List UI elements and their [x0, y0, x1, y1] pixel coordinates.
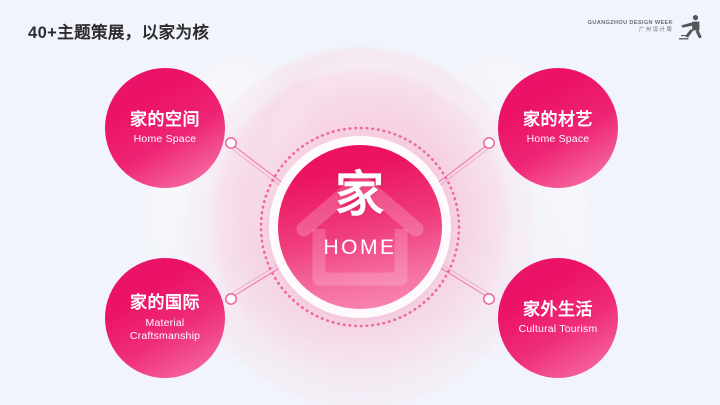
center-label-en: HOME — [278, 237, 442, 258]
bubble-label-cn: 家的材艺 — [523, 110, 593, 130]
center-label-cn: 家 — [278, 171, 442, 220]
connector-node-bottom-left — [226, 294, 236, 304]
slide-canvas: 家 HOME 家的空间 Home Space 家的材艺 Home Space 家… — [0, 0, 720, 405]
bubble-label-cn: 家的空间 — [130, 110, 200, 130]
connector-node-bottom-right — [484, 294, 494, 304]
bubble-label-cn: 家外生活 — [523, 300, 593, 320]
connector-node-top-right — [484, 138, 494, 148]
topic-bubble-home-space[interactable]: 家的空间 Home Space — [105, 68, 225, 188]
bubble-label-en: Cultural Tourism — [519, 323, 598, 336]
topic-bubble-home-craft[interactable]: 家的材艺 Home Space — [498, 68, 618, 188]
bubble-label-en: Material Craftsmanship — [130, 317, 200, 343]
brand-logo-text: GUANGZHOU DESIGN WEEK 广州设计周 — [588, 20, 673, 34]
bubble-label-cn: 家的国际 — [130, 293, 200, 313]
brand-logo-cn: 广州设计周 — [639, 27, 673, 34]
bubble-label-en-line2: Craftsmanship — [130, 330, 200, 342]
center-home-circle[interactable]: 家 HOME — [278, 145, 442, 309]
brand-logo: GUANGZHOU DESIGN WEEK 广州设计周 — [588, 13, 704, 41]
topic-bubble-material-craftsmanship[interactable]: 家的国际 Material Craftsmanship — [105, 258, 225, 378]
page-title: 40+主题策展，以家为核 — [28, 19, 209, 43]
brand-logo-en: GUANGZHOU DESIGN WEEK — [588, 20, 673, 27]
bubble-label-en-line1: Material — [146, 317, 185, 329]
bubble-label-en: Home Space — [527, 133, 590, 146]
bubble-label-en: Home Space — [134, 133, 197, 146]
running-figure-icon — [678, 13, 704, 41]
connector-node-top-left — [226, 138, 236, 148]
topic-bubble-cultural-tourism[interactable]: 家外生活 Cultural Tourism — [498, 258, 618, 378]
